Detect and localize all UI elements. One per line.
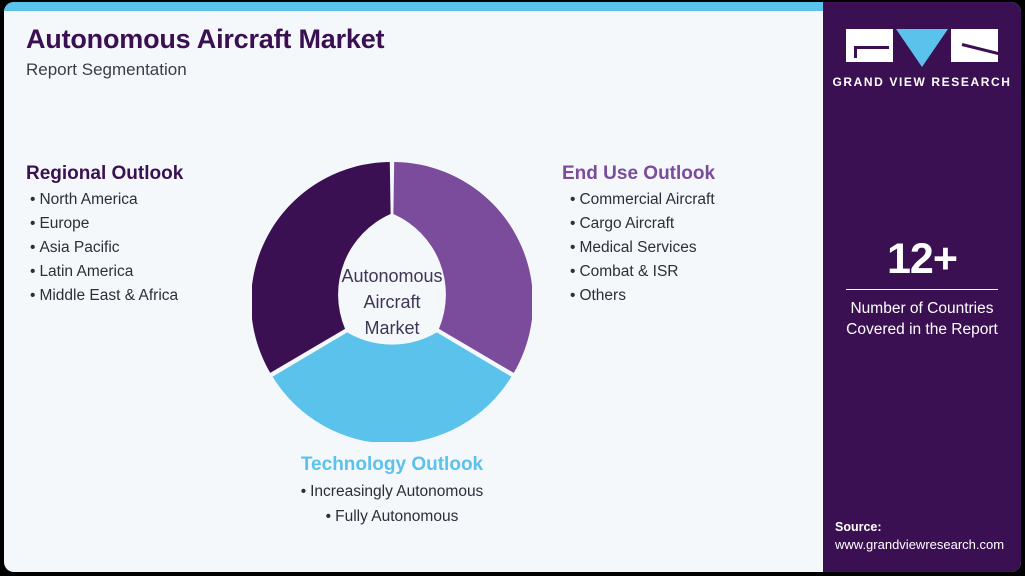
list-item-label: Latin America (39, 263, 133, 280)
list-item-label: Cargo Aircraft (579, 215, 674, 232)
list-item: •Fully Autonomous (252, 504, 532, 529)
logo-letter-r-icon (951, 29, 998, 62)
bullet-icon: • (301, 483, 306, 500)
technology-outlook-list: •Increasingly Autonomous •Fully Autonomo… (252, 479, 532, 529)
list-item-label: Medical Services (579, 239, 696, 256)
list-item: •Others (570, 284, 715, 308)
bullet-icon: • (570, 263, 575, 280)
list-item-label: Combat & ISR (579, 263, 678, 280)
stat-label-line-2: Covered in the Report (823, 319, 1021, 340)
list-item-label: Fully Autonomous (335, 508, 458, 525)
list-item-label: North America (39, 191, 137, 208)
infographic-card: Autonomous Aircraft Market Report Segmen… (4, 2, 1021, 572)
donut-segment-regional[interactable] (252, 162, 391, 373)
logo-wordmark: GRAND VIEW RESEARCH (823, 75, 1021, 89)
list-item-label: Middle East & Africa (39, 287, 178, 304)
logo-letter-g-icon (846, 29, 893, 62)
bullet-icon: • (570, 191, 575, 208)
bullet-icon: • (570, 215, 575, 232)
bullet-icon: • (570, 239, 575, 256)
list-item: •Increasingly Autonomous (252, 479, 532, 504)
list-item: •Medical Services (570, 236, 715, 260)
logo-letter-v-triangle-icon (896, 29, 948, 67)
list-item: •Cargo Aircraft (570, 212, 715, 236)
list-item: •Europe (30, 212, 183, 236)
list-item: •Combat & ISR (570, 260, 715, 284)
brand-logo: GRAND VIEW RESEARCH (823, 29, 1021, 89)
bullet-icon: • (30, 287, 35, 304)
source-url[interactable]: www.grandviewresearch.com (835, 536, 1021, 554)
list-item: •Latin America (30, 260, 183, 284)
list-item: •Middle East & Africa (30, 284, 183, 308)
stat-divider (846, 289, 998, 290)
donut-segment-end-use[interactable] (393, 162, 532, 373)
technology-outlook-heading: Technology Outlook (252, 454, 532, 476)
list-item-label: Increasingly Autonomous (310, 483, 483, 500)
regional-outlook-block: Regional Outlook •North America •Europe … (26, 163, 183, 308)
top-accent-bar (4, 2, 823, 11)
end-use-outlook-heading: End Use Outlook (562, 163, 715, 185)
list-item-label: Europe (39, 215, 89, 232)
regional-outlook-list: •North America •Europe •Asia Pacific •La… (26, 188, 183, 308)
sidebar: GRAND VIEW RESEARCH 12+ Number of Countr… (823, 2, 1021, 572)
regional-outlook-heading: Regional Outlook (26, 163, 183, 185)
stat-label-line-1: Number of Countries (823, 298, 1021, 319)
header: Autonomous Aircraft Market Report Segmen… (26, 24, 384, 80)
donut-chart-svg (252, 162, 532, 442)
bullet-icon: • (30, 215, 35, 232)
bullet-icon: • (570, 287, 575, 304)
list-item: •Asia Pacific (30, 236, 183, 260)
source-title: Source: (835, 519, 1021, 536)
stat-value: 12+ (823, 235, 1021, 283)
list-item-label: Asia Pacific (39, 239, 119, 256)
page-subtitle: Report Segmentation (26, 60, 384, 80)
source-block: Source: www.grandviewresearch.com (835, 519, 1021, 554)
bullet-icon: • (326, 508, 331, 525)
logo-mark (823, 29, 1021, 67)
stat-block: 12+ Number of Countries Covered in the R… (823, 235, 1021, 340)
bullet-icon: • (30, 191, 35, 208)
list-item-label: Commercial Aircraft (579, 191, 714, 208)
list-item: •North America (30, 188, 183, 212)
list-item: •Commercial Aircraft (570, 188, 715, 212)
end-use-outlook-list: •Commercial Aircraft •Cargo Aircraft •Me… (562, 188, 715, 308)
page-title: Autonomous Aircraft Market (26, 24, 384, 55)
donut-chart: Autonomous Aircraft Market (252, 162, 532, 442)
bullet-icon: • (30, 263, 35, 280)
bullet-icon: • (30, 239, 35, 256)
technology-outlook-block: Technology Outlook •Increasingly Autonom… (252, 454, 532, 529)
end-use-outlook-block: End Use Outlook •Commercial Aircraft •Ca… (562, 163, 715, 308)
list-item-label: Others (579, 287, 626, 304)
